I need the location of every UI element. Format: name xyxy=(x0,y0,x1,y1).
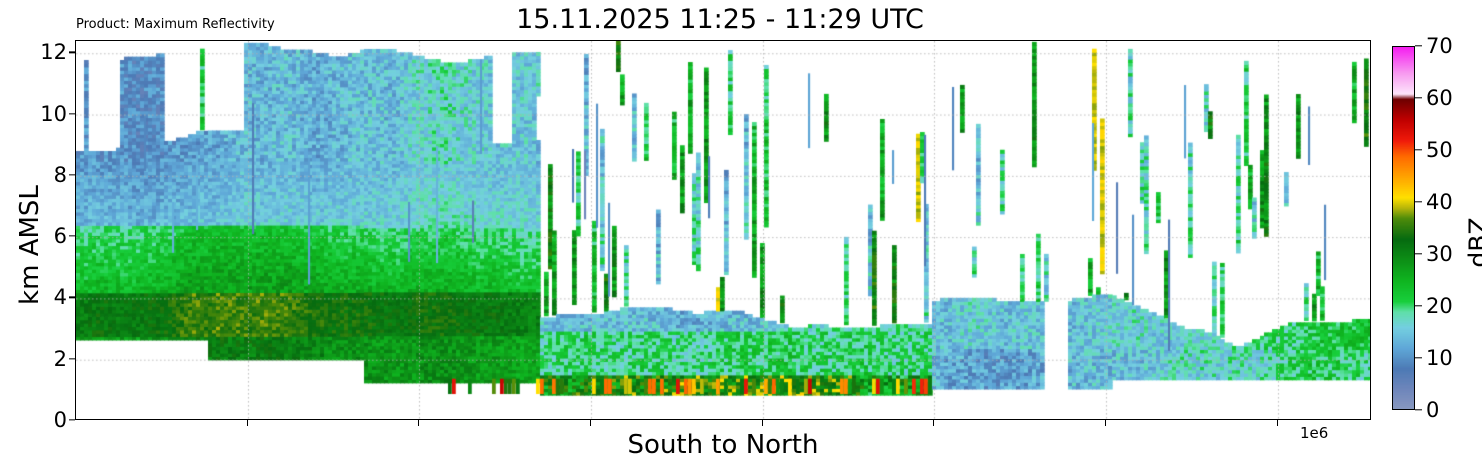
x-axis-tick-mark xyxy=(590,420,591,426)
colorbar-gradient xyxy=(1393,47,1415,410)
colorbar-tick-label: 30 xyxy=(1426,242,1453,266)
colorbar-tick-mark xyxy=(1415,201,1422,202)
x-axis-tick-mark xyxy=(933,420,934,426)
x-axis-tick-mark xyxy=(418,420,419,426)
colorbar-tick-mark xyxy=(1415,149,1422,150)
colorbar-tick-label: 40 xyxy=(1426,190,1453,214)
colorbar-tick-mark xyxy=(1415,305,1422,306)
colorbar-tick-mark xyxy=(1415,97,1422,98)
x-axis-tick-mark xyxy=(762,420,763,426)
figure-canvas: 15.11.2025 11:25 - 11:29 UTC Product: Ma… xyxy=(0,0,1482,470)
x-axis-tick-mark xyxy=(1105,420,1106,426)
y-axis-tick-label: 2 xyxy=(13,347,67,371)
product-annotation: Product: Maximum Reflectivity xyxy=(76,17,275,32)
colorbar-tick-label: 50 xyxy=(1426,138,1453,162)
y-axis-tick-label: 10 xyxy=(13,102,67,126)
colorbar-tick-label: 10 xyxy=(1426,346,1453,370)
x-axis-label: South to North xyxy=(75,430,1371,460)
colorbar-tick-mark xyxy=(1415,253,1422,254)
colorbar-label: dBZ xyxy=(1464,163,1482,323)
colorbar-tick-label: 60 xyxy=(1426,86,1453,110)
colorbar[interactable] xyxy=(1392,46,1415,410)
plot-area[interactable] xyxy=(75,40,1371,420)
colorbar-tick-label: 0 xyxy=(1426,398,1439,422)
x-axis-tick-mark xyxy=(247,420,248,426)
colorbar-tick-mark xyxy=(1415,357,1422,358)
y-axis-tick-label: 0 xyxy=(13,408,67,432)
x-axis-tick-mark xyxy=(1277,420,1278,426)
y-axis-tick-label: 12 xyxy=(13,40,67,64)
colorbar-tick-mark xyxy=(1415,409,1422,410)
colorbar-tick-label: 70 xyxy=(1426,34,1453,58)
colorbar-tick-mark xyxy=(1415,45,1422,46)
colorbar-tick-label: 20 xyxy=(1426,294,1453,318)
reflectivity-heatmap xyxy=(76,41,1371,420)
y-axis-label: km AMSL xyxy=(15,155,45,335)
x-axis-offset-text: 1e6 xyxy=(1300,424,1328,442)
